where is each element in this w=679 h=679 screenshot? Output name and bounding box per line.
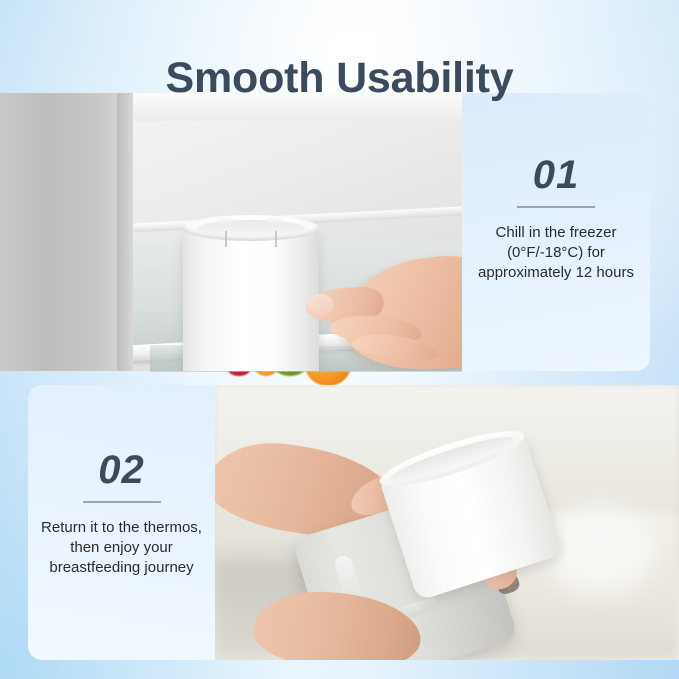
step-2-description: Return it to the thermos, then enjoy you…	[28, 518, 215, 578]
step-1-card: 01 Chill in the freezer (0°F/-18°C) for …	[462, 93, 650, 371]
lower-hand-supporting	[253, 593, 433, 660]
fingernail	[308, 294, 334, 316]
step-2-photo-thermos	[215, 385, 679, 660]
cooling-insert-cylinder	[183, 215, 319, 371]
hand-holding-insert	[300, 248, 462, 371]
step-1-description: Chill in the freezer (0°F/-18°C) for app…	[462, 223, 650, 283]
cylinder-seam-right	[275, 231, 277, 247]
page-title: Smooth Usability	[0, 54, 679, 103]
palm	[250, 586, 424, 660]
cylinder-inner-rim	[197, 220, 305, 237]
step-1-divider	[517, 206, 595, 208]
step-1-photo-refrigerator	[0, 93, 462, 371]
promo-page: Smooth Usability	[0, 0, 679, 679]
step-2-card: 02 Return it to the thermos, then enjoy …	[28, 385, 215, 660]
step-1-content: 01 Chill in the freezer (0°F/-18°C) for …	[462, 155, 650, 283]
cylinder-seam-left	[225, 231, 227, 247]
step-2-content: 02 Return it to the thermos, then enjoy …	[28, 450, 215, 578]
step-2-number: 02	[28, 450, 215, 490]
fridge-door-panel	[0, 93, 133, 371]
step-2-divider	[83, 501, 161, 503]
cylinder-notch-left	[217, 217, 232, 225]
cylinder-notch-right	[267, 217, 282, 225]
step-1-number: 01	[462, 155, 650, 195]
cylinder-top-rim	[183, 215, 319, 241]
cylinder-body	[183, 227, 319, 371]
